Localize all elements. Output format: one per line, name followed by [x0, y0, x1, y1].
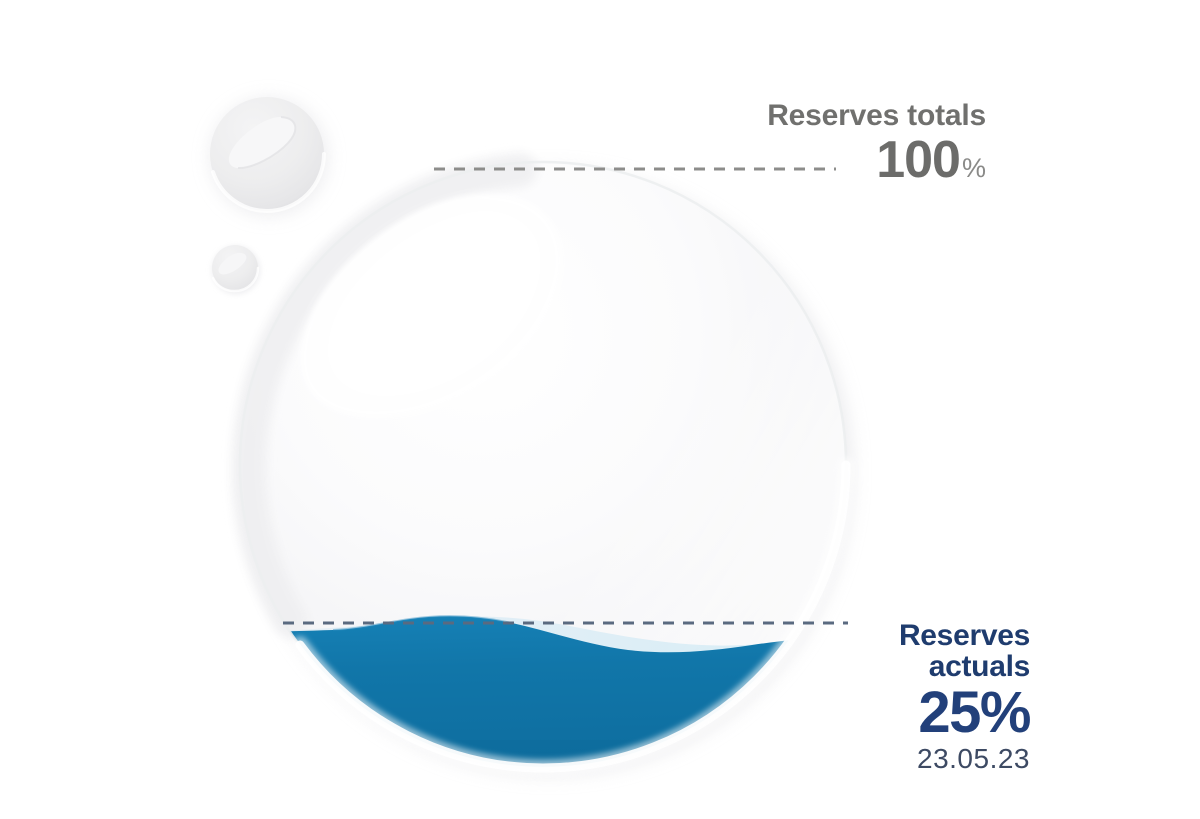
reserves-actuals-title-line1: Reserves [630, 620, 1030, 651]
reserves-totals-number: 100 [876, 134, 960, 186]
reserves-totals-unit: % [962, 155, 986, 182]
reserves-actuals-label: Reserves actuals 25% 23.05.23 [630, 620, 1030, 774]
reserves-actuals-value: 25% [630, 683, 1030, 743]
reserves-totals-title: Reserves totals [566, 100, 986, 132]
infographic-canvas: Reserves totals 100 % Reserves actuals 2… [0, 0, 1200, 819]
reserves-actuals-title-line2: actuals [630, 651, 1030, 682]
reserves-actuals-date: 23.05.23 [630, 744, 1030, 774]
reserves-actuals-title: Reserves actuals [630, 620, 1030, 682]
reserves-totals-value: 100 % [566, 134, 986, 186]
reserves-totals-label: Reserves totals 100 % [566, 100, 986, 186]
